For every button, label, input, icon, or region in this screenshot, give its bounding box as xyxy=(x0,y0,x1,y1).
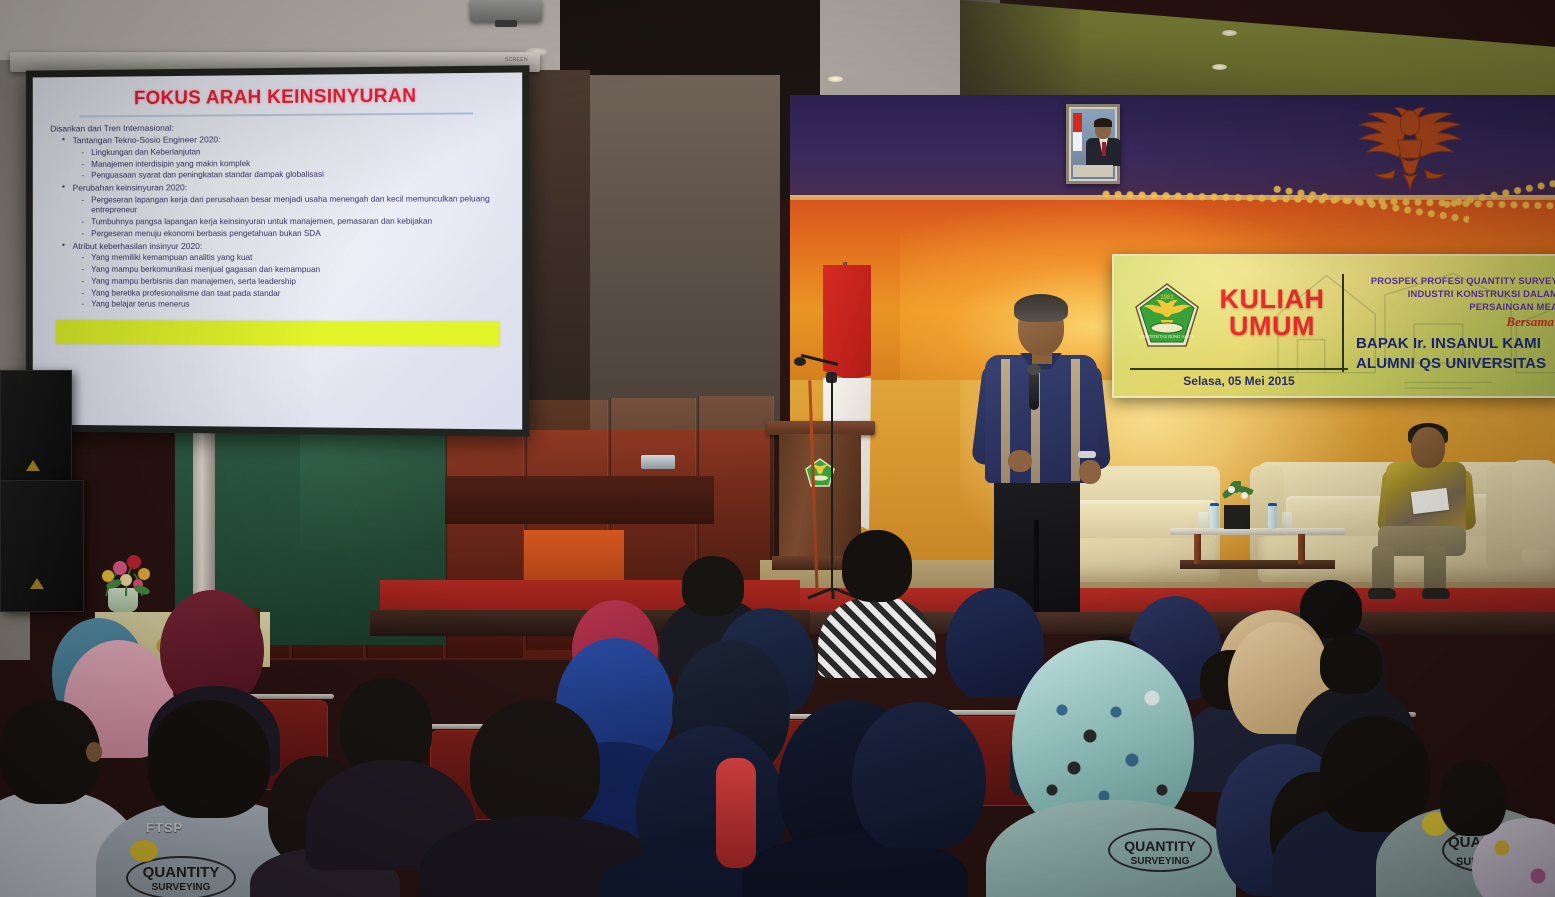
audience-ear xyxy=(86,742,102,762)
coffee-table-shelf xyxy=(1180,560,1335,569)
slide-bullet: Yang mampu berkomunikasi menjual gagasan… xyxy=(79,265,507,276)
jacket-faculty-text: FTSP xyxy=(146,820,183,835)
speaker-warning-icon xyxy=(26,460,40,471)
plant-flower xyxy=(1241,492,1248,499)
banner-topic-line1: PROSPEK PROFESI QUANTITY SURVEY xyxy=(1360,275,1555,288)
seated-guest-paper xyxy=(1411,488,1449,514)
slide-bullet: Yang belajar terus menerus xyxy=(79,300,507,312)
ceiling-downlight xyxy=(1212,64,1227,70)
audience-hijab xyxy=(852,702,986,848)
banner-divider-vertical xyxy=(1342,274,1344,372)
banner-with-label: Bersama xyxy=(1360,314,1554,330)
audience-head xyxy=(682,556,744,616)
audience-head xyxy=(1440,760,1506,836)
slide-bullet: Yang memiliki kemampuan analitis yang ku… xyxy=(79,253,507,264)
projection-screen: FOKUS ARAH KEINSINYURAN Disarikan dari T… xyxy=(26,65,529,436)
ceiling-shadow xyxy=(960,0,1080,110)
slide-title: FOKUS ARAH KEINSINYURAN xyxy=(46,85,507,111)
jacket-brand-line2: SURVEYING xyxy=(1108,856,1212,867)
banner-divider-horizontal xyxy=(1130,368,1348,370)
slide-bullet: Pergeseran lapangan kerja dari perusahaa… xyxy=(79,194,507,217)
slide-bullet: Yang beretika profesionalisme dan taat p… xyxy=(79,288,507,300)
microphone-stand xyxy=(831,372,833,592)
slide-body: Disarikan dari Tren Internasional: Tanta… xyxy=(46,120,507,346)
banner-topic-line2: INDUSTRI KONSTRUKSI DALAM xyxy=(1360,288,1555,301)
svg-text:UNIVERSITAS BUNG HATTA: UNIVERSITAS BUNG HATTA xyxy=(1139,334,1194,339)
ceiling-projector xyxy=(470,0,542,22)
seated-guest-shoe xyxy=(1422,588,1450,599)
slide-section-heading: Atribut keberhasilan insinyur 2020: xyxy=(62,241,508,252)
flower-arrangement xyxy=(92,550,158,598)
coffee-table-leg xyxy=(1194,534,1201,564)
audience-head xyxy=(842,530,912,602)
slide-bullet: Lingkungan dan Keberlanjutan xyxy=(79,145,507,158)
banner-date: Selasa, 05 Mei 2015 xyxy=(1134,374,1344,388)
banner-topic-line3: PERSAINGAN MEA xyxy=(1360,301,1555,314)
audience-head xyxy=(470,700,600,830)
audience-head xyxy=(148,700,270,818)
coffee-table-leg xyxy=(1298,534,1305,564)
presentation-slide: FOKUS ARAH KEINSINYURAN Disarikan dari T… xyxy=(33,72,522,429)
slide-bullet: Penguasaan syarat dan peningkatan standa… xyxy=(79,169,507,182)
slide-bullet: Tumbuhnya pangsa lapangan kerja keinsiny… xyxy=(79,217,507,229)
seated-guest-leg xyxy=(1424,546,1446,594)
banner-event-line2: UMUM xyxy=(1212,313,1332,340)
table-planter xyxy=(1224,505,1250,529)
jacket-brand-line1: QUANTITY xyxy=(126,864,236,881)
audience-red-garment xyxy=(716,758,756,868)
audience-head xyxy=(0,700,100,804)
microphone-capsule xyxy=(1027,364,1041,375)
pa-loudspeaker xyxy=(0,480,84,612)
shirt-stripe xyxy=(1071,359,1080,481)
presenter-hand xyxy=(1008,450,1032,472)
portrait-hair xyxy=(1094,118,1112,127)
universitas-bung-hatta-logo: 1981 UNIVERSITAS BUNG HATTA xyxy=(1133,282,1201,350)
portrait-flag-icon xyxy=(1073,113,1082,151)
projector-lens xyxy=(495,20,517,27)
presenter-leg-split xyxy=(1034,520,1039,612)
audience-head xyxy=(1320,634,1382,694)
slide-highlight-bar xyxy=(56,320,500,346)
banner-event-line1: KULIAH xyxy=(1212,286,1332,313)
seminar-photo-scene: SCREEN FOKUS ARAH KEINSINYURAN Disarikan… xyxy=(0,0,1555,897)
speaker-warning-icon xyxy=(30,578,44,589)
slide-title-rule xyxy=(79,112,473,117)
portrait-tie xyxy=(1102,142,1106,156)
ceiling-downlight xyxy=(828,76,843,82)
slide-bullet: Pergeseran menuju ekonomi berbasis penge… xyxy=(79,229,507,240)
banner-speaker-line2: ALUMNI QS UNIVERSITAS xyxy=(1356,354,1555,374)
screen-surface: FOKUS ARAH KEINSINYURAN Disarikan dari T… xyxy=(33,72,522,429)
presenter-hair xyxy=(1014,294,1068,322)
housing-brand-label: SCREEN xyxy=(505,57,528,63)
portrait-nameplate xyxy=(1073,165,1113,177)
slide-bullet: Yang mampu berbisnis dan manajemen, sert… xyxy=(79,277,507,289)
slide-bullet: Manajemen interdisipin yang makin komple… xyxy=(79,157,507,170)
jacket-badge-icon xyxy=(130,840,158,862)
water-bottle xyxy=(1210,503,1219,529)
wall-switch-plate[interactable] xyxy=(641,455,675,469)
plant-flower xyxy=(1228,486,1235,493)
audience-head xyxy=(1320,716,1430,832)
slide-section-heading: Perubahan keinsinyuran 2020: xyxy=(62,181,508,194)
drinking-glass xyxy=(1282,512,1292,528)
ceiling-downlight xyxy=(1222,30,1237,36)
presenter-wristwatch xyxy=(1078,451,1096,458)
seated-guest-shoe xyxy=(1368,588,1396,599)
seated-guest-head xyxy=(1411,427,1445,468)
jacket-brand-line2: SURVEYING xyxy=(126,882,236,893)
banner-topic: PROSPEK PROFESI QUANTITY SURVEY INDUSTRI… xyxy=(1360,275,1555,314)
wall-green-panel xyxy=(300,430,445,550)
presenter-hand xyxy=(1079,460,1101,484)
presidential-portrait xyxy=(1066,104,1120,184)
jacket-brand-line1: QUANTITY xyxy=(1108,838,1212,854)
event-banner: 1981 UNIVERSITAS BUNG HATTA KULIAH UMUM … xyxy=(1112,254,1555,398)
garuda-pancasila-emblem xyxy=(1345,100,1475,195)
water-bottle xyxy=(1268,503,1277,529)
sofa-backrest xyxy=(1512,460,1555,550)
seated-guest-leg xyxy=(1372,546,1394,594)
podium-top xyxy=(767,421,875,435)
drinking-glass xyxy=(1198,512,1208,528)
microphone-icon xyxy=(794,357,806,366)
banner-speaker-line1: BAPAK Ir. INSANUL KAMI xyxy=(1356,334,1555,354)
svg-text:1981: 1981 xyxy=(1160,295,1174,301)
wood-ledge xyxy=(444,476,714,524)
banner-speaker: BAPAK Ir. INSANUL KAMI ALUMNI QS UNIVERS… xyxy=(1356,334,1555,374)
portrait-image xyxy=(1071,109,1115,179)
